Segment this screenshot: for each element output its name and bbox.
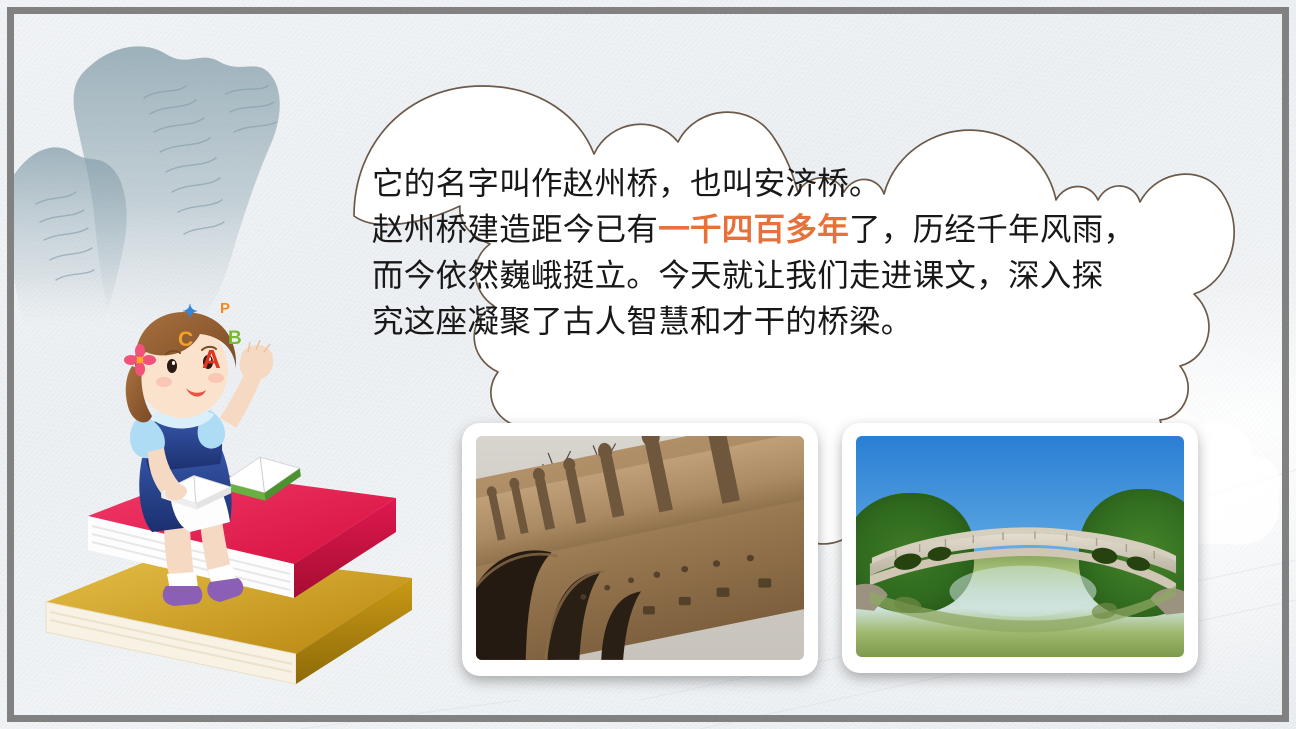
- speech-line: 而今依然巍峨挺立。今天就让我们走进课文，深入探: [372, 252, 1172, 298]
- abc-letter-b: B: [228, 328, 242, 349]
- plain-phrase: 究这座凝聚了古人智慧和才干的桥梁。: [372, 303, 913, 339]
- speech-line: 它的名字叫作赵州桥，也叫安济桥。: [372, 160, 1172, 206]
- slide-canvas: 它的名字叫作赵州桥，也叫安济桥。赵州桥建造距今已有一千四百多年了，历经千年风雨，…: [0, 0, 1296, 729]
- speech-bubble-text: 它的名字叫作赵州桥，也叫安济桥。赵州桥建造距今已有一千四百多年了，历经千年风雨，…: [372, 160, 1172, 344]
- plain-phrase: 了，历经千年风雨，: [849, 211, 1135, 247]
- zhaozhou-bridge-closeup-photo[interactable]: [462, 423, 818, 676]
- abc-letter-a: A: [202, 344, 221, 374]
- abc-letter-c: C: [178, 328, 193, 351]
- zhaozhou-bridge-river-photo[interactable]: [842, 423, 1198, 673]
- abc-letter-p: P: [220, 300, 230, 317]
- speech-line: 赵州桥建造距今已有一千四百多年了，历经千年风雨，: [372, 206, 1172, 252]
- highlighted-phrase: 一千四百多年: [658, 211, 849, 247]
- plain-phrase: 而今依然巍峨挺立。今天就让我们走进课文，深入探: [372, 257, 1103, 293]
- photo2-bridge-structure: [856, 436, 1184, 657]
- photo1-bridge-arches: [476, 521, 804, 660]
- plain-phrase: 它的名字叫作赵州桥，也叫安济桥。: [372, 165, 881, 201]
- speech-line: 究这座凝聚了古人智慧和才干的桥梁。: [372, 298, 1172, 344]
- plain-phrase: 赵州桥建造距今已有: [372, 211, 658, 247]
- abc-letters-decoration: ✦ P C B A: [176, 296, 258, 376]
- abc-letter-star: ✦: [182, 302, 198, 323]
